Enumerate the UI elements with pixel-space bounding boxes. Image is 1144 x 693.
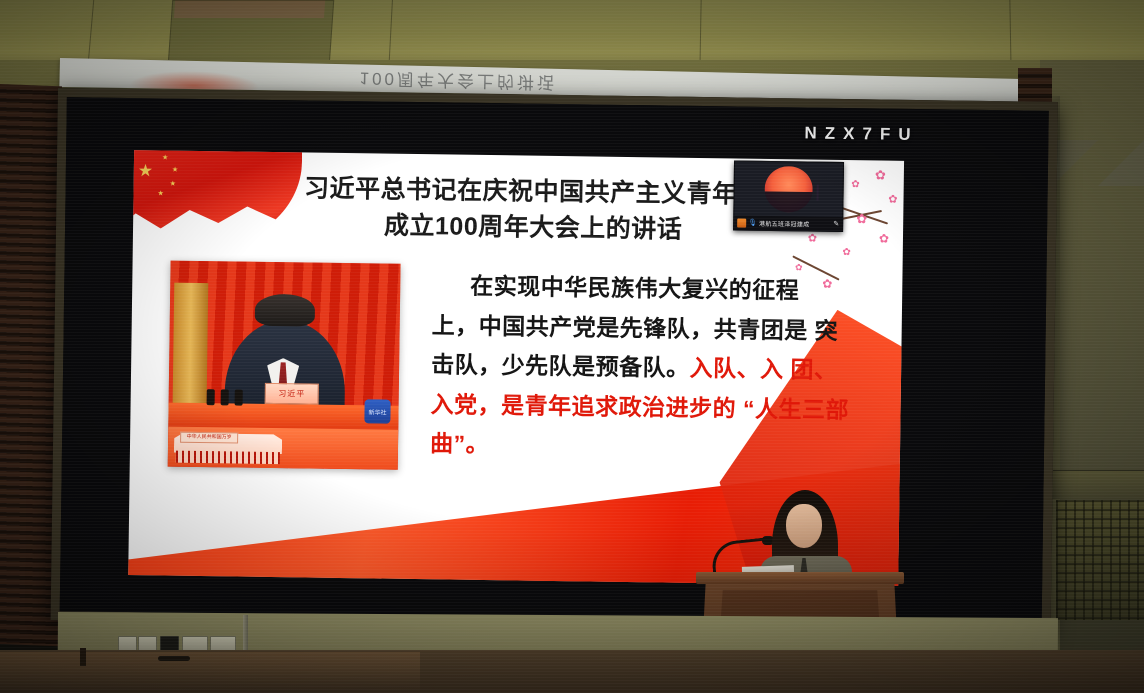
podium-top-surface <box>696 572 904 584</box>
microphone-icon[interactable]: 🎙 <box>748 219 757 227</box>
photo-hall-sign: 中华人民共和国万岁 <box>180 432 238 444</box>
flag-star-1: ★ <box>162 154 168 161</box>
wall-cable <box>80 648 86 666</box>
video-thumb-detail <box>817 185 819 201</box>
air-vent-grille <box>1056 500 1144 620</box>
flag-star-2: ★ <box>172 167 178 174</box>
video-thumbnail <box>764 166 813 213</box>
photo-speaker-hair <box>255 294 315 327</box>
flag-star-3: ★ <box>170 181 176 188</box>
user-avatar-icon <box>737 218 746 227</box>
slide-body-line-1: 在实现中华民族伟大复兴的征程 <box>432 266 853 311</box>
floor-cable <box>158 656 190 661</box>
projector-osd-code: NZX7FU <box>804 123 918 145</box>
slide-body-line-3-highlight: 入队、入 <box>689 355 783 382</box>
floor-reflection <box>0 652 420 693</box>
slide-photo: 习近平 中华人民共和国万岁 新华社 <box>168 261 401 470</box>
screen-surface: NZX7FU ★ ★ ★ ★ ★ <box>60 97 1049 625</box>
video-name-bar: 🎙 港航五班泽冠建成 ✎ <box>734 215 842 231</box>
flag-star-large: ★ <box>138 162 153 179</box>
photo-hall-columns <box>176 451 280 464</box>
participant-name: 港航五班泽冠建成 <box>759 218 831 228</box>
flag-star-4: ★ <box>157 190 163 197</box>
video-conference-window[interactable]: 🎙 港航五班泽冠建成 ✎ <box>733 160 844 232</box>
presenter-face <box>786 504 822 548</box>
ceiling-access-panel <box>168 0 334 64</box>
acoustic-triangle-panels <box>1052 140 1144 470</box>
photo-watermark-logo: 新华社 <box>364 399 390 423</box>
pencil-icon[interactable]: ✎ <box>833 220 839 228</box>
photo-nameplate: 习近平 <box>265 383 319 405</box>
lecture-hall-photo: 100周年大会上的讲话 NZX7FU <box>0 0 1144 693</box>
slide-body-text: 在实现中华民族伟大复兴的征程 上，中国共产党是先锋队，共青团是 突击队，少先队是… <box>430 266 853 470</box>
slide-body-line-2: 上，中国共产党是先锋队，共青团是 <box>432 312 808 343</box>
wall-ledge <box>1052 470 1144 499</box>
photo-microphone-2 <box>221 389 229 405</box>
photo-microphone-3 <box>235 389 243 405</box>
projection-screen: NZX7FU ★ ★ ★ ★ ★ <box>51 88 1058 634</box>
photo-microphone-1 <box>207 389 215 405</box>
